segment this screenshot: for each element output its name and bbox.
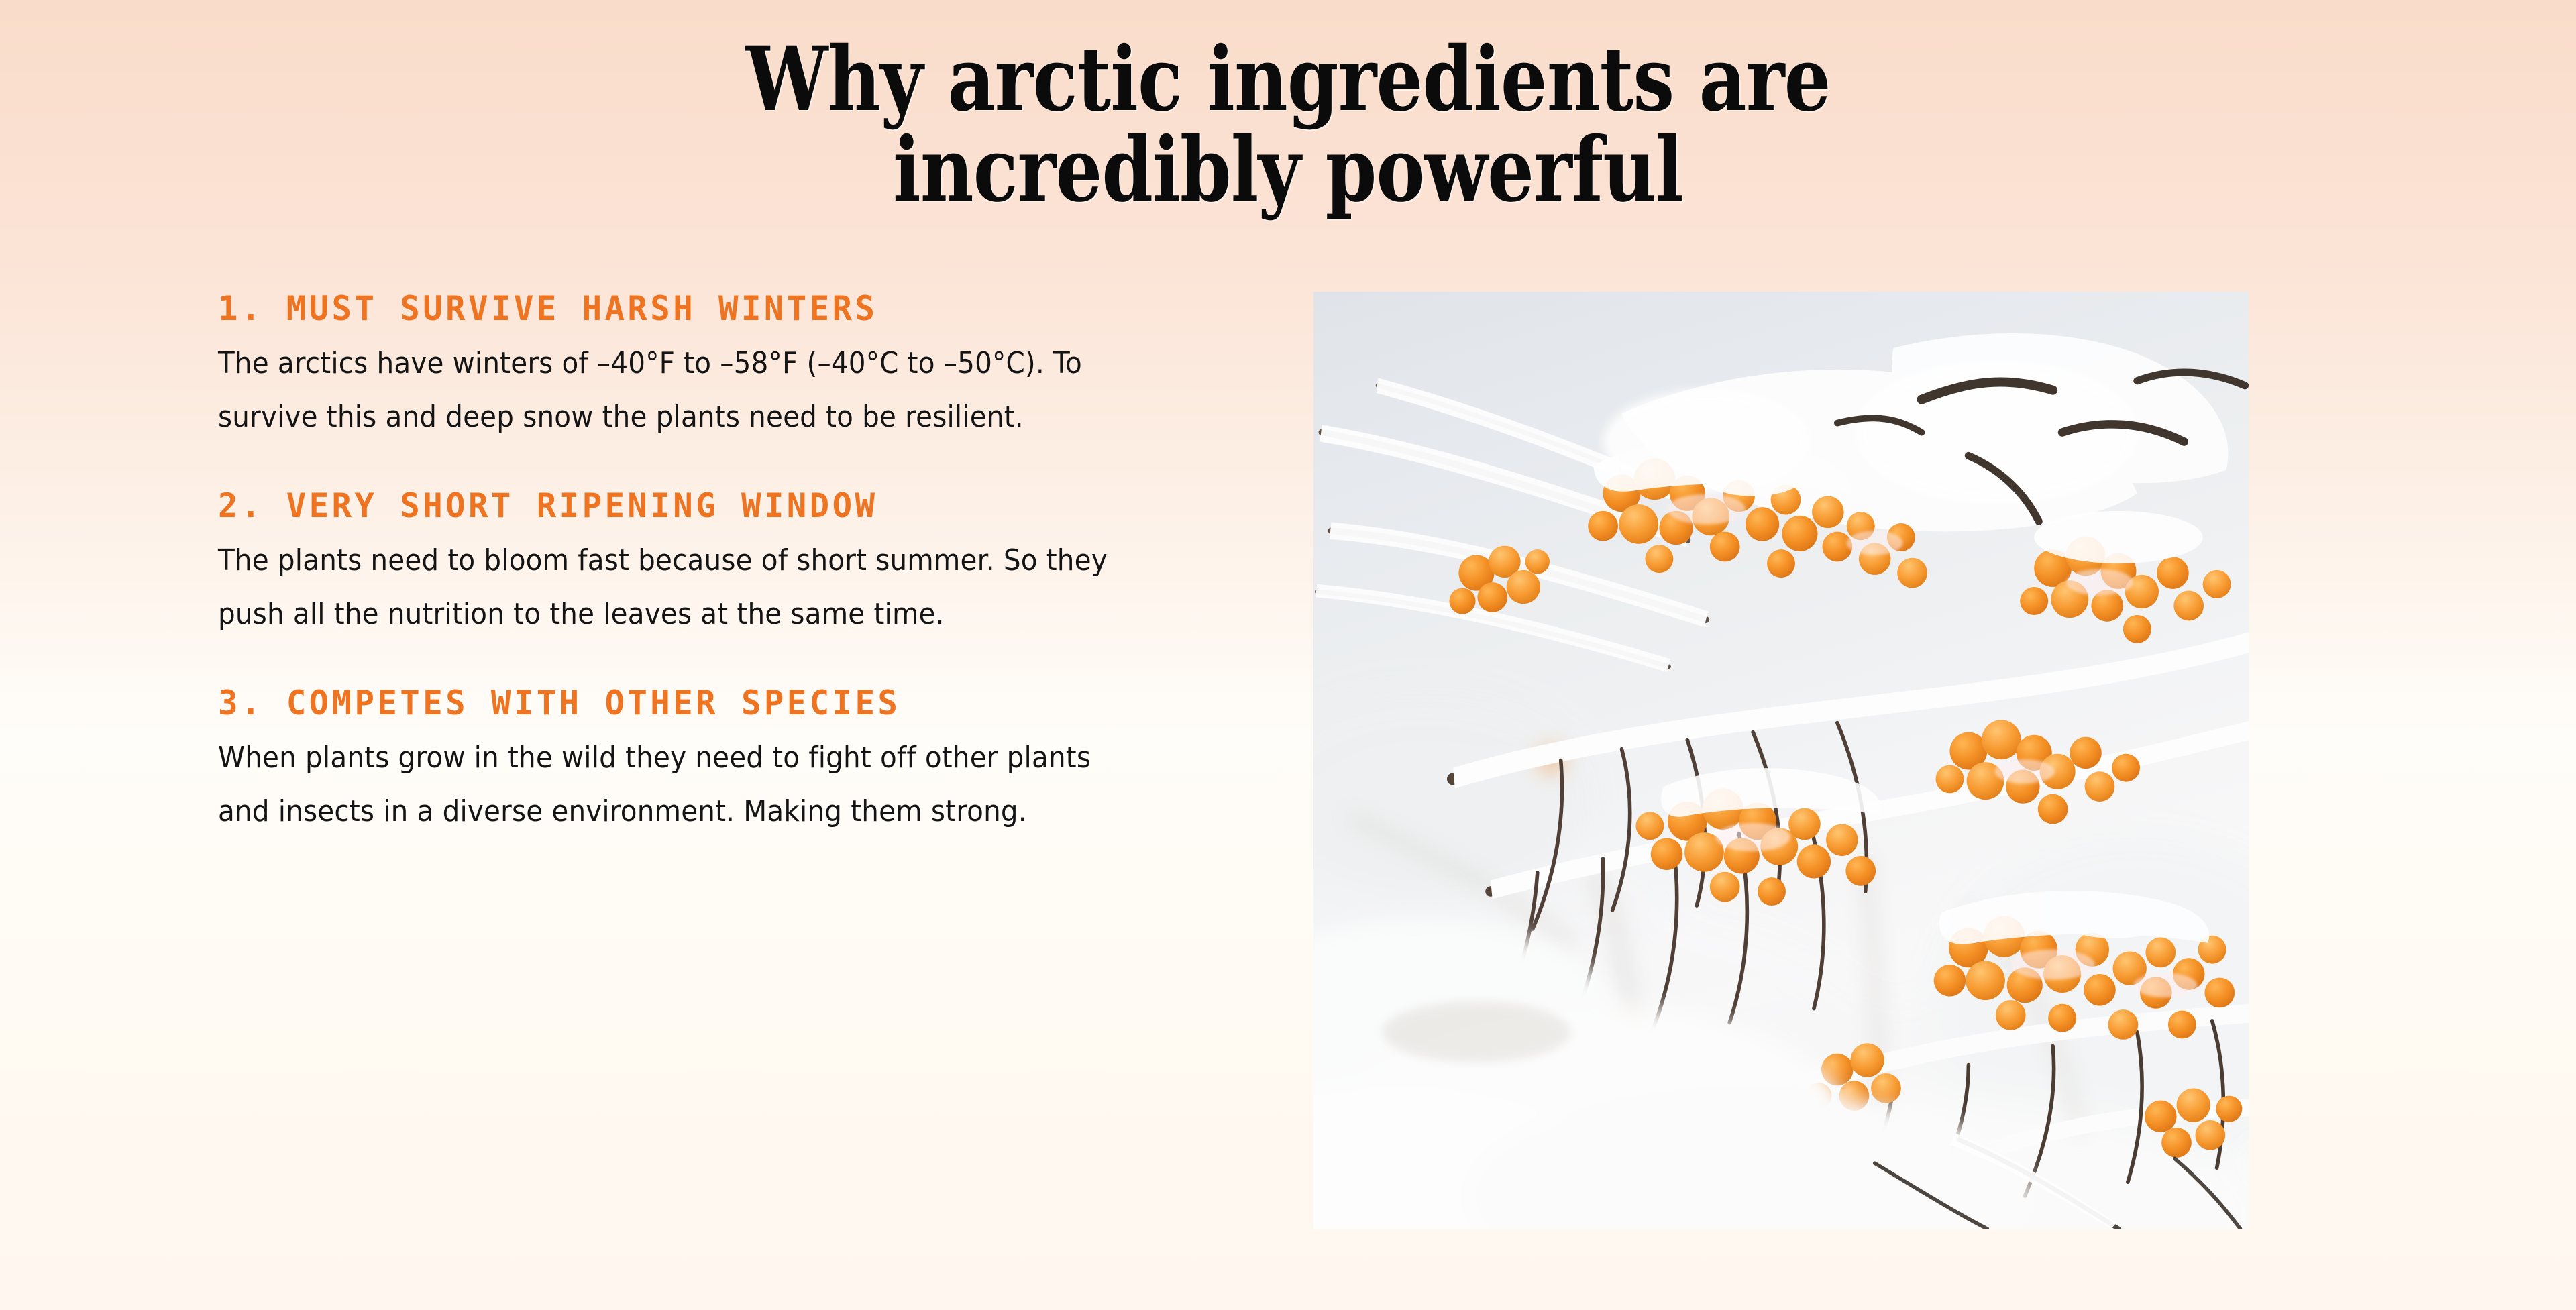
reason-heading-1: 1. MUST SURVIVE HARSH WINTERS bbox=[218, 290, 1256, 327]
page-title-line-2: incredibly powerful bbox=[219, 125, 2357, 216]
reason-block-2: 2. VERY SHORT RIPENING WINDOW The plants… bbox=[218, 487, 1278, 641]
reason-heading-3: 3. COMPETES WITH OTHER SPECIES bbox=[218, 684, 1256, 722]
reason-block-3: 3. COMPETES WITH OTHER SPECIES When plan… bbox=[218, 684, 1278, 838]
sea-buckthorn-illustration bbox=[1313, 292, 2249, 1229]
reason-heading-2: 2. VERY SHORT RIPENING WINDOW bbox=[218, 487, 1256, 525]
reason-body-2: The plants need to bloom fast because of… bbox=[218, 534, 1132, 641]
reason-body-1: The arctics have winters of –40°F to –58… bbox=[218, 337, 1132, 444]
page-title-line-1: Why arctic ingredients are bbox=[219, 35, 2357, 125]
reason-block-1: 1. MUST SURVIVE HARSH WINTERS The arctic… bbox=[218, 290, 1278, 444]
reason-body-3: When plants grow in the wild they need t… bbox=[218, 731, 1132, 838]
page-title-text: Why arctic ingredients are incredibly po… bbox=[219, 35, 2357, 215]
slide-canvas: Why arctic ingredients are incredibly po… bbox=[0, 0, 2576, 1310]
sea-buckthorn-photo bbox=[1313, 292, 2249, 1229]
page-title: Why arctic ingredients are incredibly po… bbox=[0, 0, 2576, 215]
reasons-list: 1. MUST SURVIVE HARSH WINTERS The arctic… bbox=[218, 290, 1278, 838]
